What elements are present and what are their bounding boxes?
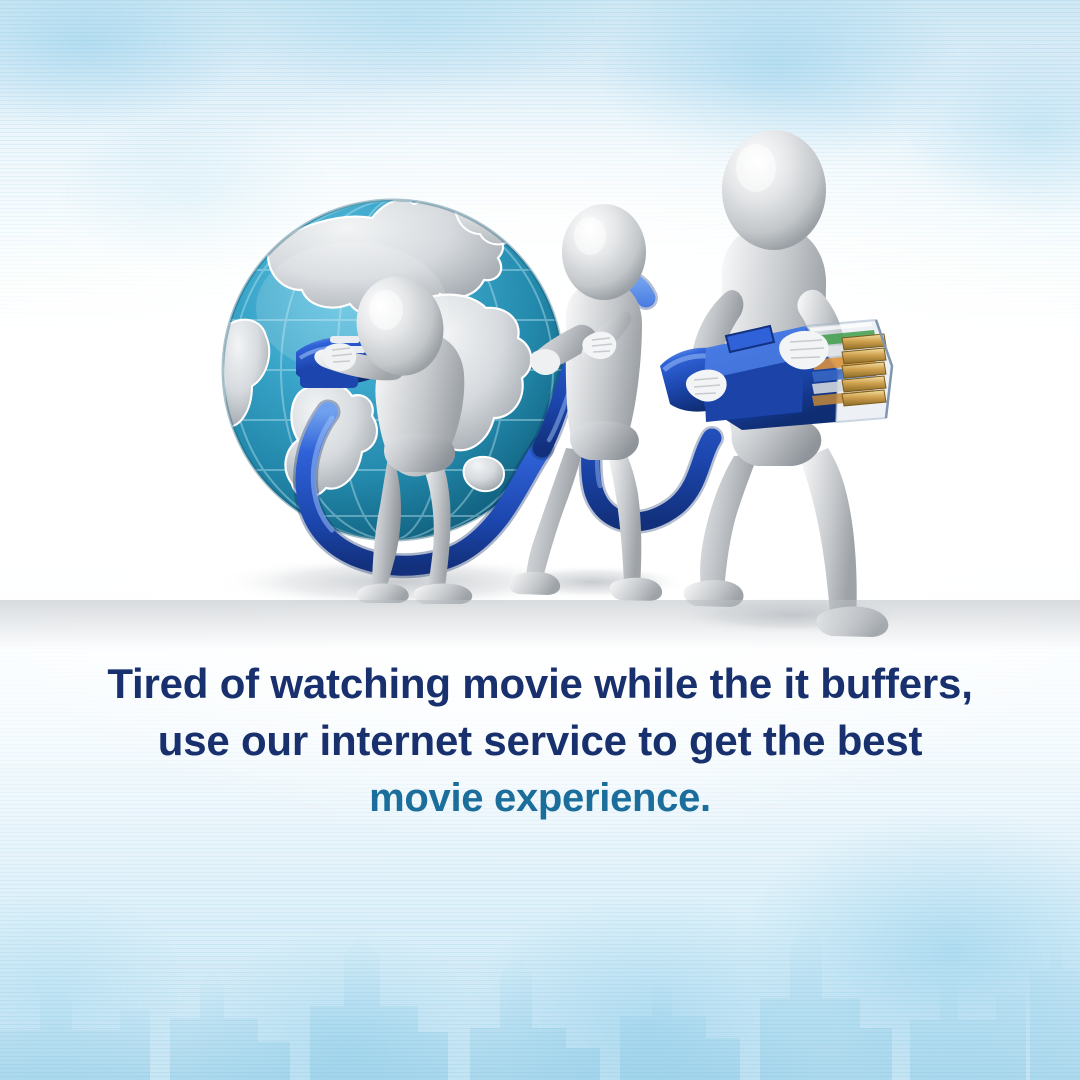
illustration <box>0 130 1080 650</box>
figure-right <box>660 130 892 637</box>
illustration-svg <box>0 130 1080 650</box>
floor-fade <box>0 600 1080 650</box>
poster-canvas: Tired of watching movie while the it buf… <box>0 0 1080 1080</box>
caption-line-2: use our internet service to get the best <box>0 717 1080 764</box>
caption-line-1: Tired of watching movie while the it buf… <box>0 660 1080 707</box>
caption-block: Tired of watching movie while the it buf… <box>0 660 1080 821</box>
caption-accent-line: movie experience. <box>0 776 1080 821</box>
